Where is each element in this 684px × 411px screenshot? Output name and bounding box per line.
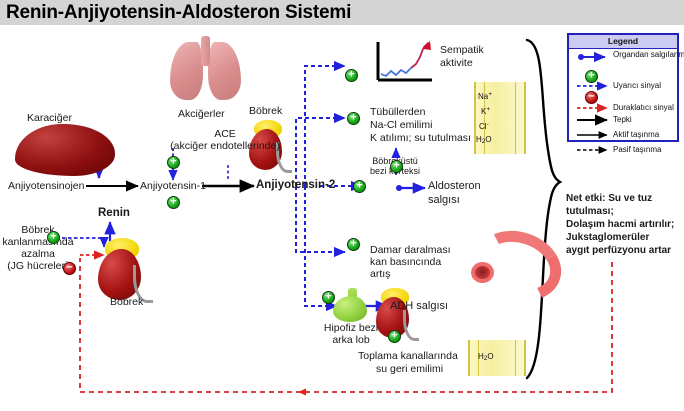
collecting-duct-line2: su geri emilimi: [376, 363, 443, 375]
legend-heading: Legend: [569, 35, 677, 49]
stimulatory-badge-aldosterone: +: [390, 160, 403, 173]
legend-label-inhibitory: Duraklatıcı sinyal: [613, 103, 674, 112]
legend-label-secretion: Organdan salgılanma: [613, 50, 684, 59]
angiotensinogen-label: Anjiyotensinojen: [8, 180, 84, 192]
adh-label: ADH salgısı: [390, 300, 448, 312]
jg-trigger-line3: azalma: [2, 248, 74, 260]
stimulatory-badge-adrenal: +: [353, 180, 366, 193]
ace-label-line2: (akciğer endotellerinde): [163, 140, 287, 152]
ion-label-k: K+: [481, 105, 490, 116]
legend-item-inhibitory: − Duraklatıcı sinyal: [569, 91, 677, 113]
tubule-effect-line1: Tübüllerden: [370, 106, 425, 118]
net-effect-line4: Jukstaglomerüler: [566, 232, 649, 244]
legend-label-active-transport: Aktif taşınma: [613, 130, 659, 139]
ion-label-h2o: H2O: [476, 135, 492, 146]
legend-label-stimulatory: Uyarıcı sinyal: [613, 81, 661, 90]
tubule-effect-line2: Na-Cl emilimi: [370, 119, 432, 131]
stimulatory-badge-ace: +: [167, 156, 180, 169]
net-effect-line5: aygıt perfüzyonu artar: [566, 245, 671, 257]
blood-vessel-graphic: [468, 232, 546, 286]
renin-label: Renin: [98, 207, 130, 219]
legend-item-stimulatory: + Uyarıcı sinyal: [569, 71, 677, 91]
legend-item-secretion: Organdan salgılanma: [569, 49, 677, 71]
tubule-effect-line3: K atılımı; su tutulması: [370, 132, 471, 144]
aldosterone-line1: Aldosteron: [428, 180, 481, 192]
stimulatory-badge-pituitary: +: [322, 291, 335, 304]
page-title: Renin-Anjiyotensin-Aldosteron Sistemi: [6, 2, 351, 24]
angiotensin2-label: Anjiyotensin-2: [256, 179, 335, 191]
legend-item-active-transport: Aktif taşınma: [569, 128, 677, 143]
stimulatory-badge-sympathetic: +: [345, 69, 358, 82]
legend-item-passive-transport: Pasif taşınma: [569, 143, 677, 158]
inhibitory-badge-jg: −: [63, 262, 76, 275]
jg-trigger-line1: Böbrek: [2, 224, 74, 236]
legend-box: Legend Organdan salgılanma + Uyarıcı sin…: [567, 33, 679, 142]
sympathetic-label-line2: aktivite: [440, 57, 473, 69]
kidney-left-label: Böbrek: [110, 296, 143, 308]
net-effect-line3: Dolaşım hacmi artırılır;: [566, 219, 674, 231]
aldosterone-line2: salgısı: [428, 194, 460, 206]
lungs-label: Akciğerler: [178, 108, 225, 120]
sympathetic-label-line1: Sempatik: [440, 44, 484, 56]
stimulatory-badge-adh: +: [388, 330, 401, 343]
vasoconstriction-line2: kan basıncında: [370, 256, 441, 268]
stimulatory-badge-renin: +: [167, 196, 180, 209]
stimulatory-badge-tubule: +: [347, 112, 360, 125]
liver-organ: [15, 124, 115, 176]
pituitary-organ: [333, 288, 369, 322]
lungs-organ: [170, 36, 242, 106]
liver-label: Karaciğer: [27, 112, 72, 124]
pituitary-line2: arka lob: [314, 334, 388, 346]
ion-label-h2o-collecting: H2O: [478, 352, 494, 363]
kidney-top-label: Böbrek: [249, 105, 282, 117]
net-effect-line1: Net etki: Su ve tuz: [566, 193, 652, 205]
sympathetic-activity-chart: [374, 40, 436, 84]
angiotensin1-label: Anjiyotensin-1: [140, 180, 206, 192]
legend-label-passive-transport: Pasif taşınma: [613, 145, 661, 154]
ion-label-na: Na+: [478, 90, 492, 101]
ion-label-cl: Cl-: [479, 120, 489, 131]
stimulatory-badge-vaso: +: [347, 238, 360, 251]
collecting-duct-line1: Toplama kanallarında: [358, 350, 458, 362]
vasoconstriction-line3: artış: [370, 268, 390, 280]
jg-trigger-line2: kanlanmasında: [0, 236, 78, 248]
ace-label-line1: ACE: [180, 128, 270, 140]
vasoconstriction-line1: Damar daralması: [370, 244, 451, 256]
kidney-organ-left: [98, 238, 154, 300]
stimulatory-badge-jg: +: [47, 231, 60, 244]
legend-label-response: Tepki: [613, 115, 632, 124]
net-effect-line2: tutulması;: [566, 206, 614, 218]
pituitary-line1: Hipofiz bezi: [314, 322, 388, 334]
legend-item-response: Tepki: [569, 113, 677, 128]
collecting-duct-graphic: [468, 340, 526, 376]
